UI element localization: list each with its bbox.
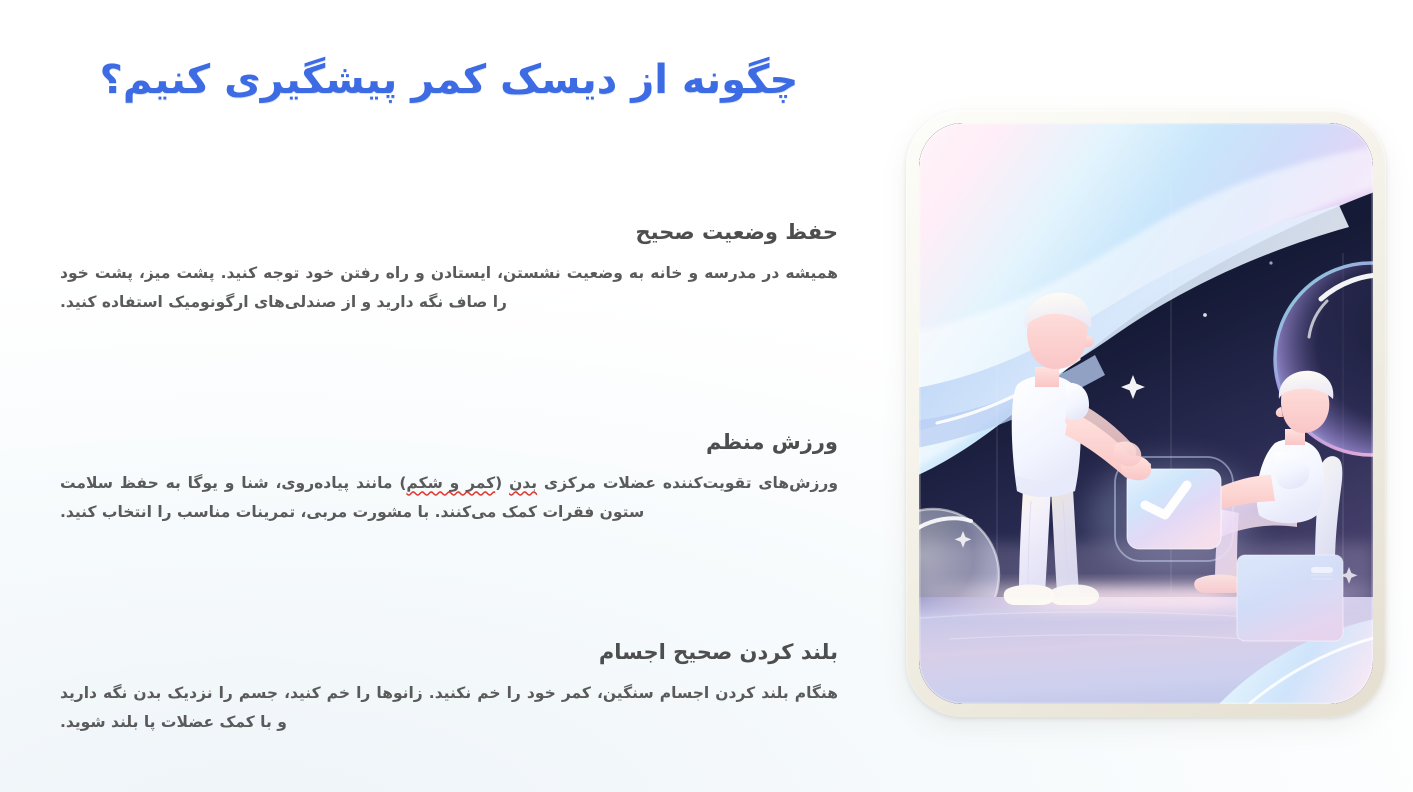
content-column: چگونه از دیسک کمر پیشگیری کنیم؟ حفظ وضعی… [60,0,838,792]
section-exercise: ورزش منظم ورزش‌های تقویت‌کننده عضلات مرک… [60,428,838,527]
section-heading: حفظ وضعیت صحیح [60,218,838,247]
section-body: همیشه در مدرسه و خانه به وضعیت نشستن، ای… [60,259,838,316]
illustration-artwork [919,123,1373,704]
page-title: چگونه از دیسک کمر پیشگیری کنیم؟ [60,55,838,105]
body-text-lead: ورزش‌های تقویت‌کننده عضلات مرکزی [537,474,838,492]
section-lifting: بلند کردن صحیح اجسام هنگام بلند کردن اجس… [60,638,838,737]
section-body: ورزش‌های تقویت‌کننده عضلات مرکزی بدن (کم… [60,469,838,526]
spellcheck-word-kamr-o-shekam[interactable]: کمر و شکم [406,474,495,492]
spellcheck-word-badan[interactable]: بدن [509,474,537,492]
section-body: هنگام بلند کردن اجسام سنگین، کمر خود را … [60,679,838,736]
section-posture: حفظ وضعیت صحیح همیشه در مدرسه و خانه به … [60,218,838,317]
body-text-paren-open: ( [495,474,509,492]
illustration-canvas [919,123,1373,704]
illustration-frame[interactable] [906,110,1386,717]
section-heading: ورزش منظم [60,428,838,457]
section-heading: بلند کردن صحیح اجسام [60,638,838,667]
